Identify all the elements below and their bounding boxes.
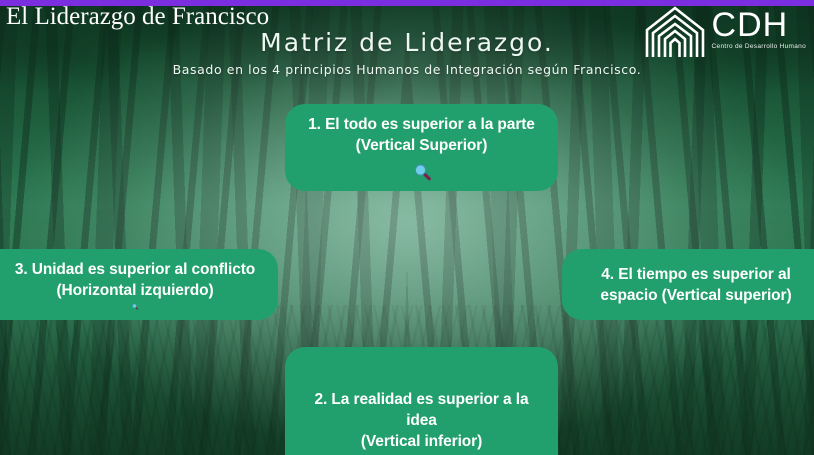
matrix-card-text: 2. La realidad es superior a la idea (Ve… <box>299 389 544 452</box>
nested-arch-chevron-icon <box>644 4 706 60</box>
matrix-card-vertical-inferior[interactable]: 2. La realidad es superior a la idea (Ve… <box>285 347 558 455</box>
magnifier-icon <box>412 162 432 181</box>
matrix-card-text: 3. Unidad es superior al conflicto (Hori… <box>15 259 255 301</box>
slide-subtitle: Basado en los 4 principios Humanos de In… <box>0 62 814 77</box>
magnifier-icon <box>125 303 145 310</box>
matrix-card-vertical-superior[interactable]: 1. El todo es superior a la parte (Verti… <box>285 104 558 191</box>
document-title: El Liderazgo de Francisco <box>6 3 269 31</box>
brand-tagline: Centro de Desarrollo Humano <box>712 42 806 51</box>
presentation-slide: El Liderazgo de Francisco CDH Centro de … <box>0 0 814 455</box>
matrix-card-horizontal-izquierdo[interactable]: 3. Unidad es superior al conflicto (Hori… <box>0 249 278 320</box>
matrix-card-text: 1. El todo es superior a la parte (Verti… <box>308 114 535 156</box>
matrix-card-text: 4. El tiempo es superior al espacio (Ver… <box>600 264 791 306</box>
brand-name: CDH <box>712 8 806 42</box>
brand-text-group: CDH Centro de Desarrollo Humano <box>712 4 806 51</box>
matrix-card-vertical-superior-tiempo[interactable]: 4. El tiempo es superior al espacio (Ver… <box>562 249 814 320</box>
brand-logo-group: CDH Centro de Desarrollo Humano <box>644 4 806 60</box>
top-accent-bar <box>0 0 814 6</box>
